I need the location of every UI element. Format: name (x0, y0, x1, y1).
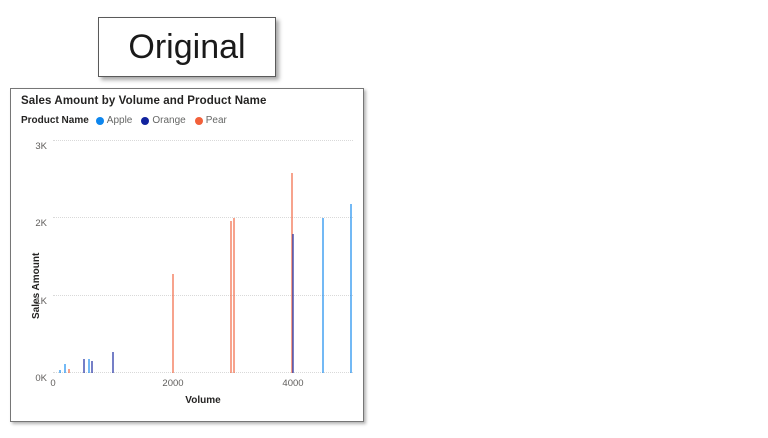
legend-item-orange[interactable]: Orange (141, 115, 185, 126)
chart-bar[interactable] (233, 218, 235, 373)
gridline (53, 140, 353, 141)
chart-bar[interactable] (292, 234, 294, 373)
legend-label-pear: Pear (206, 115, 227, 126)
legend-dot-pear-icon (195, 117, 203, 125)
chart-bar[interactable] (350, 204, 352, 373)
chart-bar[interactable] (322, 218, 324, 373)
chart-bar[interactable] (91, 361, 93, 373)
chart-bar[interactable] (64, 364, 66, 373)
legend-title: Product Name (21, 115, 89, 126)
chart-bar[interactable] (83, 359, 85, 373)
legend-dot-orange-icon (141, 117, 149, 125)
axis-baseline (53, 372, 353, 373)
x-axis-tick-label: 0 (50, 378, 55, 389)
x-axis-title-original: Volume (53, 395, 353, 406)
left-panel: Original Sales Amount by Volume and Prod… (0, 0, 384, 438)
chart-title-original: Sales Amount by Volume and Product Name (21, 95, 266, 107)
x-axis-tick-label: 4000 (282, 378, 303, 389)
legend-original: Product Name Apple Orange Pear (21, 115, 232, 126)
chart-bar[interactable] (68, 369, 70, 373)
caption-original: Original (98, 17, 276, 77)
chart-card-original: Sales Amount by Volume and Product Name … (10, 88, 364, 422)
plot-area-original: 0K1K2K3K020004000 (53, 141, 353, 373)
legend-dot-apple-icon (96, 117, 104, 125)
gridline (53, 217, 353, 218)
gridline (53, 295, 353, 296)
right-panel: Calculated Column Sales Amount by Group … (384, 0, 768, 438)
y-axis-title-original: Sales Amount (31, 253, 42, 319)
x-axis-tick-label: 2000 (162, 378, 183, 389)
legend-label-orange: Orange (152, 115, 185, 126)
chart-bar[interactable] (230, 221, 232, 373)
chart-bar[interactable] (59, 370, 61, 373)
chart-bar[interactable] (88, 359, 90, 373)
chart-bar[interactable] (172, 274, 174, 373)
legend-item-pear[interactable]: Pear (195, 115, 227, 126)
chart-bar[interactable] (112, 352, 114, 373)
legend-label-apple: Apple (107, 115, 133, 126)
legend-item-apple[interactable]: Apple (96, 115, 133, 126)
